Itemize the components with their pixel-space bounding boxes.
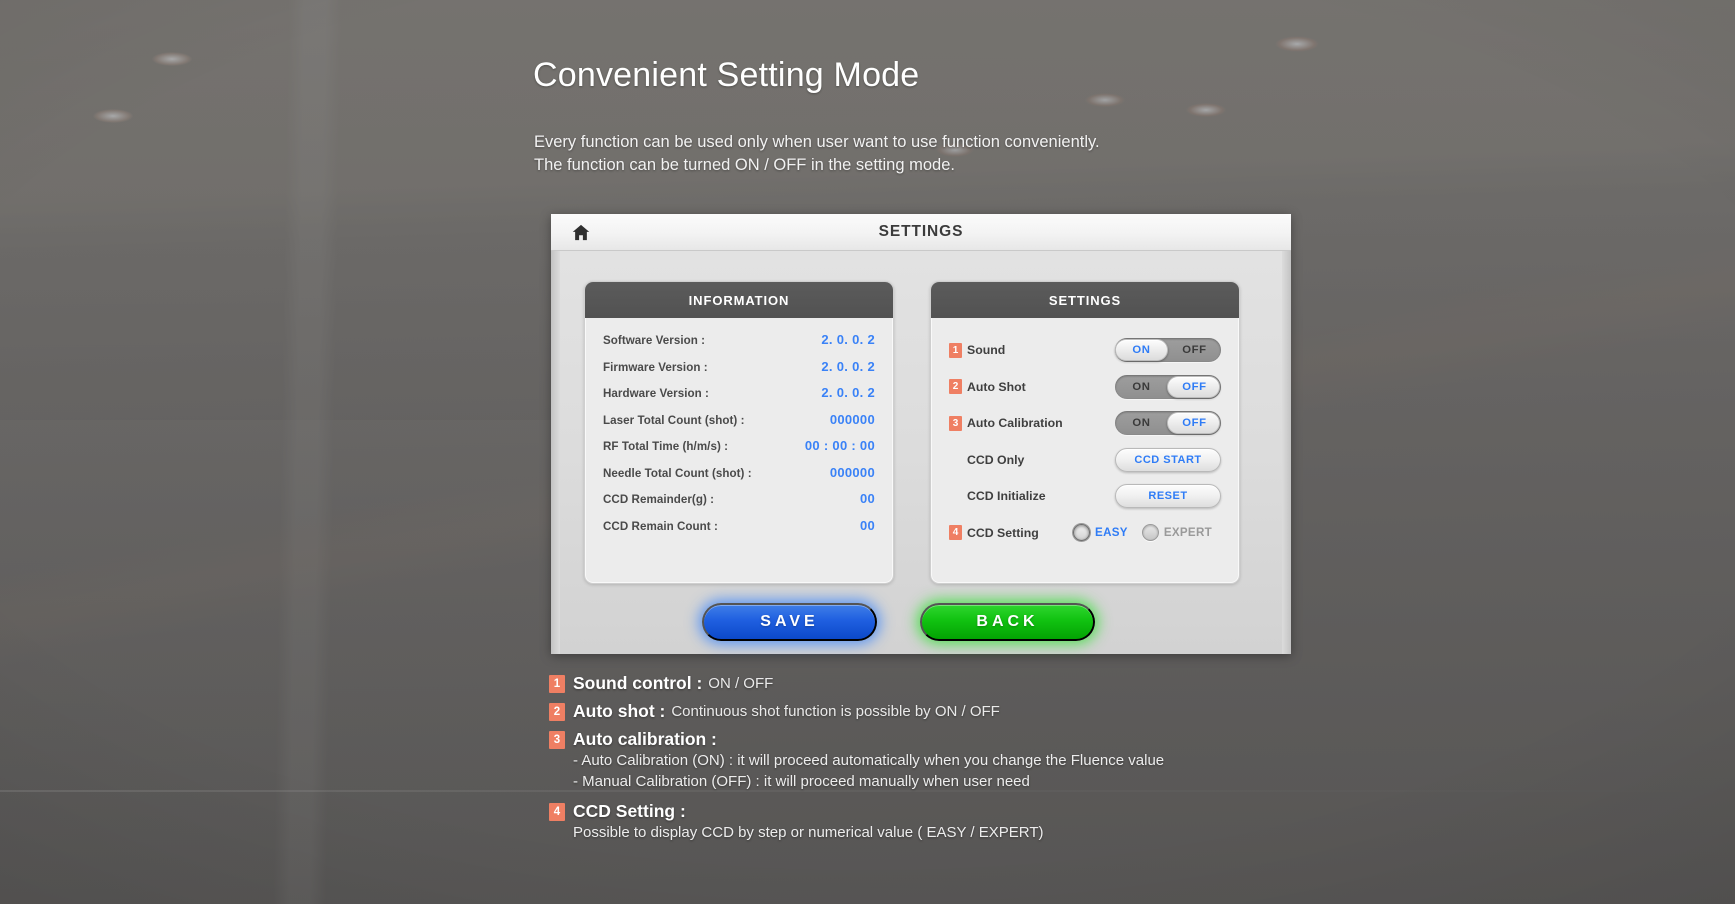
settings-row: 4CCD SettingEASYEXPERT: [949, 515, 1221, 552]
information-row-value: 000000: [830, 412, 875, 427]
legend-item-badge: 1: [549, 675, 565, 693]
settings-row-label: CCD Initialize: [967, 489, 1046, 503]
toggle-auto-calibration[interactable]: ONOFF: [1115, 411, 1221, 435]
settings-row-label: Sound: [967, 343, 1005, 357]
settings-row-control: ONOFF: [1115, 338, 1221, 362]
information-row-label: Hardware Version :: [603, 387, 709, 400]
legend-item: 1Sound control :ON / OFF: [549, 673, 1449, 694]
legend-item: 3Auto calibration :- Auto Calibration (O…: [549, 729, 1449, 792]
subtitle-line-2: The function can be turned ON / OFF in t…: [534, 154, 1100, 177]
save-button[interactable]: SAVE: [702, 603, 877, 641]
page-root: Convenient Setting Mode Every function c…: [0, 0, 1735, 904]
information-row-label: Laser Total Count (shot) :: [603, 414, 745, 427]
settings-row-label: CCD Setting: [967, 526, 1039, 540]
information-card-header: INFORMATION: [585, 282, 893, 318]
toggle-sound[interactable]: ONOFF: [1115, 338, 1221, 362]
legend-item-title: Auto shot :: [573, 701, 665, 722]
settings-row-badge-spacer: [949, 489, 962, 504]
device-title: SETTINGS: [551, 223, 1291, 241]
settings-row-control: RESET: [1115, 484, 1221, 508]
information-row-label: Firmware Version :: [603, 361, 708, 374]
legend-item-inline-text: Continuous shot function is possible by …: [671, 703, 999, 720]
radio-label-expert[interactable]: EXPERT: [1164, 526, 1212, 539]
information-row: RF Total Time (h/m/s) :00 : 00 : 00: [603, 438, 875, 465]
settings-row-control: ONOFF: [1115, 375, 1221, 399]
settings-row: 1SoundONOFF: [949, 332, 1221, 369]
information-row-label: CCD Remainder(g) :: [603, 493, 714, 506]
settings-row-label: CCD Only: [967, 453, 1024, 467]
settings-row: CCD InitializeRESET: [949, 478, 1221, 515]
settings-row-control: CCD START: [1115, 448, 1221, 472]
settings-row: 2Auto ShotONOFF: [949, 369, 1221, 406]
information-row-value: 2. 0. 0. 2: [821, 332, 875, 347]
information-row-label: RF Total Time (h/m/s) :: [603, 440, 728, 453]
legend-item-title: Auto calibration :: [573, 729, 717, 750]
settings-row-badge-spacer: [949, 452, 962, 467]
settings-row-control: ONOFF: [1115, 411, 1221, 435]
radio-easy[interactable]: [1073, 524, 1090, 541]
settings-row-label: Auto Shot: [967, 380, 1026, 394]
information-row: Software Version :2. 0. 0. 2: [603, 332, 875, 359]
settings-row: 3Auto CalibrationONOFF: [949, 405, 1221, 442]
legend-item-title: CCD Setting :: [573, 801, 686, 822]
toggle-on-label[interactable]: ON: [1115, 381, 1168, 393]
legend-item-badge: 2: [549, 703, 565, 721]
legend-item-head: 3Auto calibration :: [549, 729, 1449, 750]
legend-item-subline: - Auto Calibration (ON) : it will procee…: [573, 750, 1449, 771]
legend-item-subline: - Manual Calibration (OFF) : it will pro…: [573, 771, 1449, 792]
home-icon[interactable]: [571, 223, 591, 242]
settings-row-control: EASYEXPERT: [1073, 524, 1221, 541]
legend-item: 4CCD Setting :Possible to display CCD by…: [549, 801, 1449, 843]
radio-expert[interactable]: [1142, 524, 1159, 541]
legend-list: 1Sound control :ON / OFF2Auto shot :Cont…: [549, 673, 1449, 845]
page-title: Convenient Setting Mode: [533, 56, 919, 95]
information-card: INFORMATION Software Version :2. 0. 0. 2…: [584, 281, 894, 584]
information-row-label: Needle Total Count (shot) :: [603, 467, 752, 480]
information-row-value: 00: [860, 518, 875, 533]
information-row-value: 2. 0. 0. 2: [821, 385, 875, 400]
information-rows: Software Version :2. 0. 0. 2Firmware Ver…: [585, 318, 893, 544]
legend-item: 2Auto shot :Continuous shot function is …: [549, 701, 1449, 722]
information-row: Needle Total Count (shot) :000000: [603, 465, 875, 492]
information-row-label: CCD Remain Count :: [603, 520, 718, 533]
information-row-value: 00: [860, 491, 875, 506]
page-subtitle: Every function can be used only when use…: [534, 131, 1100, 177]
settings-card-header: SETTINGS: [931, 282, 1239, 318]
device-screen: SETTINGS INFORMATION Software Version :2…: [551, 214, 1291, 654]
toggle-on-label[interactable]: ON: [1115, 344, 1168, 356]
information-row-value: 2. 0. 0. 2: [821, 359, 875, 374]
settings-row: CCD OnlyCCD START: [949, 442, 1221, 479]
ccd-setting-radio-group: EASYEXPERT: [1073, 524, 1221, 541]
information-row: Hardware Version :2. 0. 0. 2: [603, 385, 875, 412]
legend-item-head: 4CCD Setting :: [549, 801, 1449, 822]
toggle-on-label[interactable]: ON: [1115, 417, 1168, 429]
information-row-label: Software Version :: [603, 334, 705, 347]
radio-label-easy[interactable]: EASY: [1095, 526, 1128, 539]
legend-item-head: 2Auto shot :Continuous shot function is …: [549, 701, 1449, 722]
information-row: CCD Remainder(g) :00: [603, 491, 875, 518]
device-body: INFORMATION Software Version :2. 0. 0. 2…: [551, 251, 1291, 654]
settings-row-badge: 4: [949, 525, 962, 540]
information-row-value: 000000: [830, 465, 875, 480]
toggle-off-label[interactable]: OFF: [1168, 417, 1221, 429]
toggle-off-label[interactable]: OFF: [1168, 344, 1221, 356]
settings-row-badge: 2: [949, 379, 962, 394]
settings-row-badge: 1: [949, 343, 962, 358]
settings-rows: 1SoundONOFF2Auto ShotONOFF3Auto Calibrat…: [931, 318, 1239, 551]
legend-item-title: Sound control :: [573, 673, 702, 694]
settings-card: SETTINGS 1SoundONOFF2Auto ShotONOFF3Auto…: [930, 281, 1240, 584]
settings-row-label: Auto Calibration: [967, 416, 1063, 430]
legend-item-badge: 4: [549, 803, 565, 821]
legend-item-subline: Possible to display CCD by step or numer…: [573, 822, 1449, 843]
legend-item-badge: 3: [549, 731, 565, 749]
device-titlebar: SETTINGS: [551, 214, 1291, 251]
information-row: Laser Total Count (shot) :000000: [603, 412, 875, 439]
legend-item-inline-text: ON / OFF: [708, 675, 773, 692]
subtitle-line-1: Every function can be used only when use…: [534, 131, 1100, 154]
information-row: Firmware Version :2. 0. 0. 2: [603, 359, 875, 386]
ccd-start-button[interactable]: CCD START: [1115, 448, 1221, 472]
settings-row-badge: 3: [949, 416, 962, 431]
reset-button[interactable]: RESET: [1115, 484, 1221, 508]
information-row-value: 00 : 00 : 00: [805, 438, 875, 453]
toggle-auto-shot[interactable]: ONOFF: [1115, 375, 1221, 399]
toggle-off-label[interactable]: OFF: [1168, 381, 1221, 393]
legend-item-head: 1Sound control :ON / OFF: [549, 673, 1449, 694]
information-row: CCD Remain Count :00: [603, 518, 875, 545]
back-button[interactable]: BACK: [920, 603, 1095, 641]
